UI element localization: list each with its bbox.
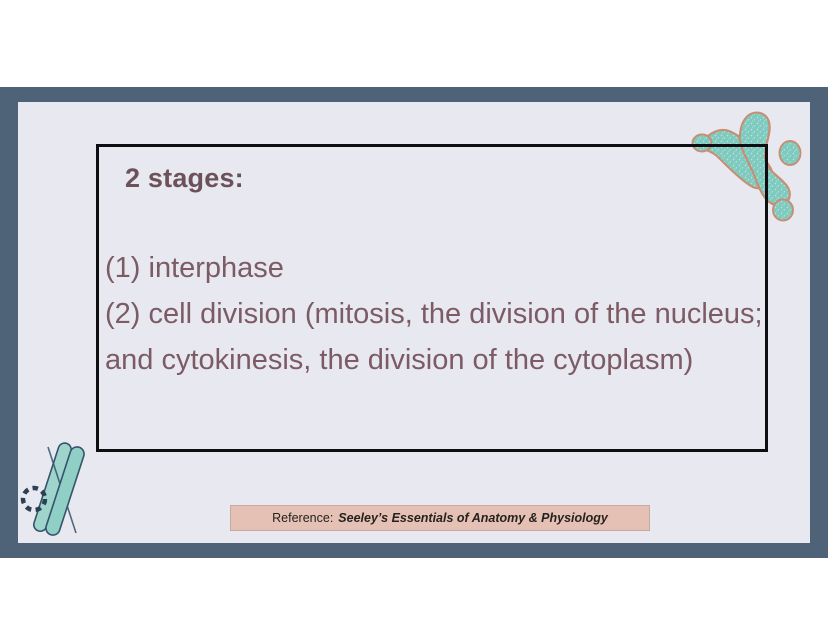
reference-source-title: Seeley’s Essentials of Anatomy & Physiol…	[338, 511, 608, 525]
slide-canvas: 2 stages: (1) interphase (2) cell divisi…	[18, 102, 810, 543]
body-line-cell-division: (2) cell division (mitosis, the division…	[105, 291, 765, 383]
reference-box: Reference:Seeley’s Essentials of Anatomy…	[230, 505, 650, 531]
reference-label: Reference:	[272, 511, 333, 525]
reference-text: Reference:Seeley’s Essentials of Anatomy…	[272, 511, 608, 525]
page-title: 2 stages:	[125, 163, 244, 194]
body-text: (1) interphase (2) cell division (mitosi…	[105, 245, 765, 383]
content-text-box: 2 stages: (1) interphase (2) cell divisi…	[96, 144, 768, 452]
slide-frame: 2 stages: (1) interphase (2) cell divisi…	[0, 87, 828, 558]
body-line-interphase: (1) interphase	[105, 245, 765, 291]
microtubule-rod	[44, 445, 86, 537]
microtubule-rod	[32, 441, 76, 533]
chromatin-dot	[773, 200, 793, 221]
chromatin-dot	[780, 141, 801, 165]
centriole-icon	[23, 488, 45, 510]
